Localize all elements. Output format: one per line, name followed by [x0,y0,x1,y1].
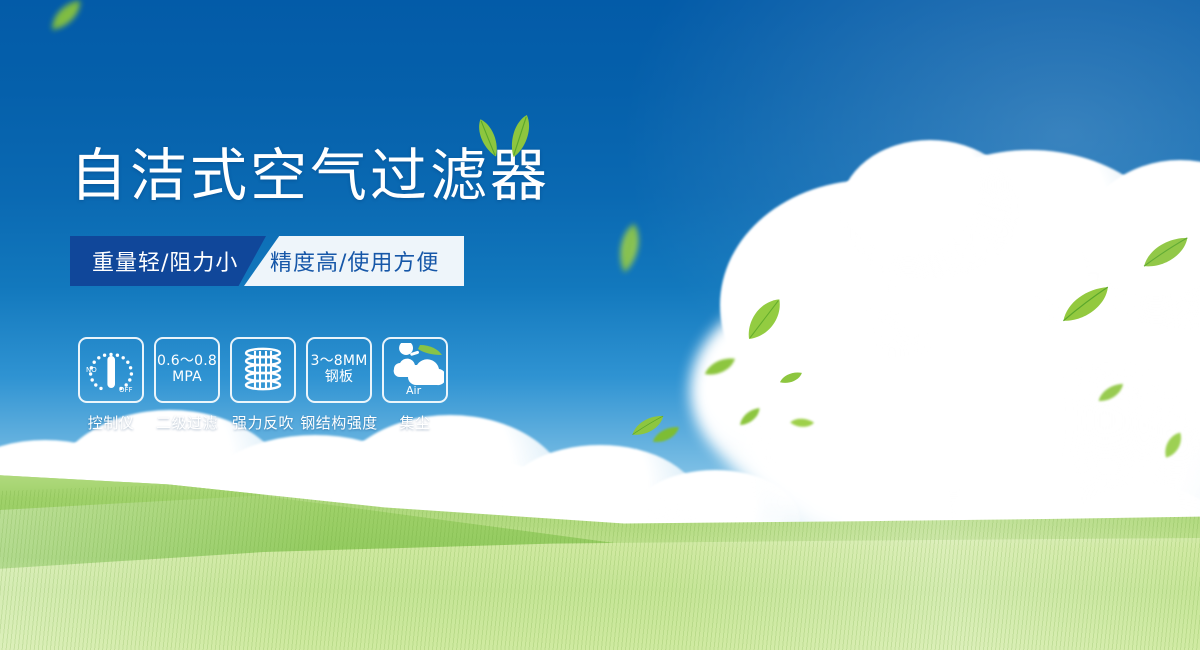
pressure-value-icon: 0.6～0.8 MPA [154,337,220,403]
feature-item[interactable]: Air 集尘 [382,337,448,433]
feature-label: 二级过滤 [156,412,218,433]
leaf-icon [778,368,804,387]
filter-stack-icon [230,337,296,403]
dial-off-label: OFF [119,386,133,394]
control-dial-icon: NO OFF [78,337,144,403]
feature-item[interactable]: NO OFF 控制仪 [78,337,144,433]
air-cloud-icon: Air [382,337,448,403]
feature-label: 钢结构强度 [300,412,378,433]
feature-item[interactable]: 0.6～0.8 MPA 二级过滤 [154,337,220,433]
subtitle-right-text: 精度高/使用方便 [270,236,439,286]
feature-item[interactable]: 3～8MM 钢板 钢结构强度 [306,337,372,433]
dial-on-label: NO [86,366,97,374]
feature-item[interactable]: 强力反吹 [230,337,296,433]
feature-label: 控制仪 [88,412,135,433]
feature-label: 强力反吹 [232,412,294,433]
feature-list: NO OFF 控制仪 0.6～0.8 MPA 二级过滤 [78,337,448,433]
feature-value: 3～8MM 钢板 [311,354,368,385]
feature-value: 0.6～0.8 MPA [157,354,217,385]
air-badge-label: Air [406,384,422,397]
steel-value-icon: 3～8MM 钢板 [306,337,372,403]
product-banner: 自洁式空气过滤器 重量轻/阻力小 精度高/使用方便 [0,0,1200,650]
feature-label: 集尘 [399,412,430,433]
page-title: 自洁式空气过滤器 [70,146,550,206]
subtitle-bar: 重量轻/阻力小 精度高/使用方便 [70,236,464,286]
subtitle-left-text: 重量轻/阻力小 [92,236,238,286]
